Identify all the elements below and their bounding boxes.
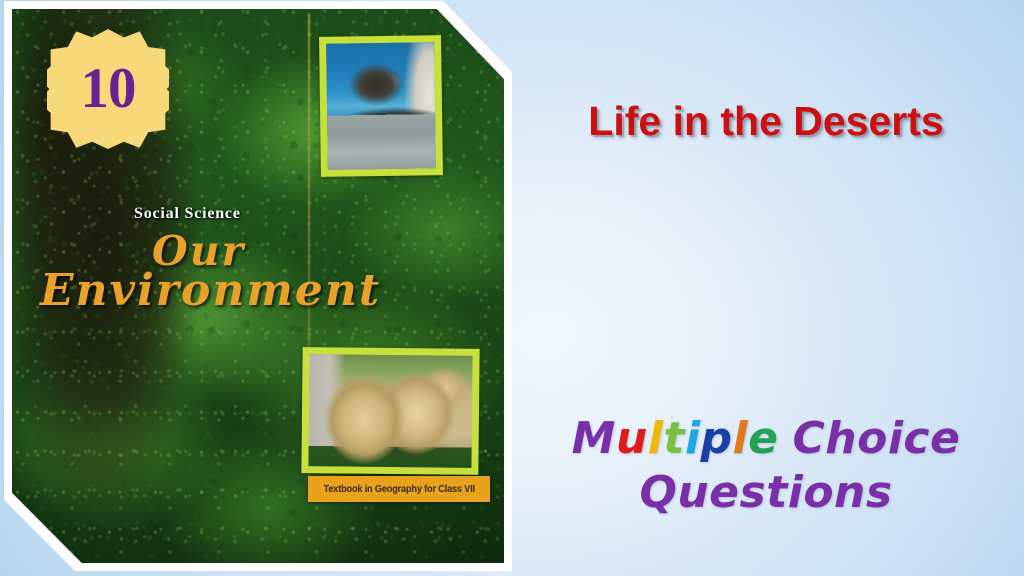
page-title: Life in the Deserts	[516, 98, 1016, 145]
mcq-heading-line-2: Questions	[516, 466, 1016, 520]
mcq-letter-1: u	[616, 413, 648, 464]
desert-shrubs-photo-frame	[301, 347, 479, 475]
mcq-letter-6: l	[733, 413, 749, 464]
mcq-word-choice: Choice	[792, 413, 960, 464]
mcq-letter-0: M	[572, 413, 616, 464]
mcq-letter-5: p	[701, 413, 733, 464]
book-subject-label: Social Science	[134, 205, 241, 223]
chapter-number-badge: 10	[47, 29, 169, 149]
slide-canvas: 10 Social Science Our Environment Textbo…	[0, 0, 1024, 576]
mcq-heading: MultipleChoice Questions	[516, 412, 1016, 519]
mcq-heading-line-1: MultipleChoice	[516, 412, 1016, 466]
coastal-rock-photo-frame	[319, 35, 443, 177]
mcq-letter-3: t	[663, 413, 685, 464]
mcq-letter-2: l	[648, 413, 664, 464]
mcq-letter-7: e	[748, 413, 778, 464]
book-strapline-banner: Textbook in Geography for Class VII	[308, 476, 490, 502]
chapter-number-label: 10	[47, 29, 169, 149]
desert-shrubs-photo	[308, 354, 472, 468]
mcq-word-multiple: Multiple	[572, 413, 779, 464]
book-title-line-2: Environment	[40, 265, 381, 316]
mcq-letter-4: i	[685, 413, 701, 464]
book-strapline-label: Textbook in Geography for Class VII	[323, 484, 474, 495]
coastal-rock-photo	[326, 42, 436, 169]
book-cover-image: 10 Social Science Our Environment Textbo…	[4, 1, 516, 575]
book-cover-artwork: 10 Social Science Our Environment Textbo…	[12, 9, 504, 563]
